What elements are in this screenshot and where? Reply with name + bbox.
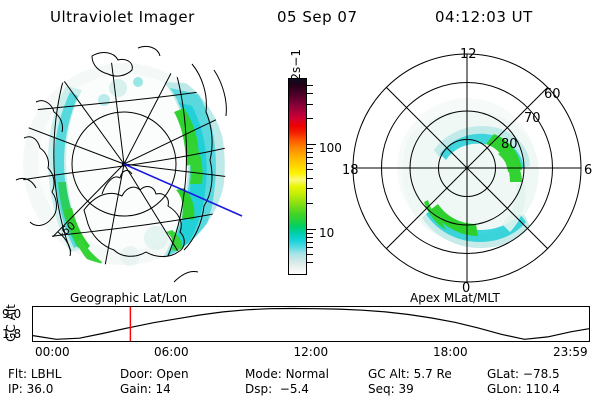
status-glat: GLat: −78.5 bbox=[487, 367, 560, 381]
strip-caption-geographic: Geographic Lat/Lon bbox=[70, 291, 187, 305]
status-gc-alt: GC Alt: 5.7 Re bbox=[368, 367, 452, 381]
status-mode: Mode: Normal bbox=[245, 367, 329, 381]
colorbar-minor-tick bbox=[307, 152, 313, 153]
uvi-summary-plot: Ultraviolet Imager 05 Sep 07 04:12:03 UT bbox=[0, 0, 600, 400]
colorbar-minor-tick bbox=[307, 242, 313, 243]
colorbar-minor-tick bbox=[307, 203, 313, 204]
mlat-label-80: 80 bbox=[501, 137, 518, 152]
aurora-emission-polar bbox=[397, 98, 539, 248]
colorbar-minor-tick bbox=[307, 93, 313, 94]
strip-time-tick-label: 18:00 bbox=[433, 345, 468, 359]
colorbar-minor-tick bbox=[307, 237, 313, 238]
colorbar-minor-tick bbox=[307, 157, 313, 158]
orbit-altitude-curve bbox=[33, 307, 589, 341]
status-gain: Gain: 14 bbox=[120, 382, 171, 396]
apex-polar-panel: 12 6 0 18 60 70 80 bbox=[338, 42, 596, 294]
strip-time-tick-label: 00:00 bbox=[35, 345, 70, 359]
colorbar-tick-label: 10 bbox=[319, 233, 334, 234]
colorbar-minor-tick bbox=[307, 163, 313, 164]
colorbar-minor-tick bbox=[307, 104, 313, 105]
strip-time-tick-label: 12:00 bbox=[294, 345, 329, 359]
strip-caption-apex: Apex MLat/MLT bbox=[410, 291, 500, 305]
colorbar-minor-tick bbox=[307, 85, 313, 86]
status-door: Door: Open bbox=[120, 367, 189, 381]
strip-ytick-top: 9.0 bbox=[2, 307, 21, 321]
orbit-altitude-strip-plot[interactable] bbox=[32, 306, 590, 342]
geographic-image-panel: -60 bbox=[6, 42, 246, 292]
strip-time-tick-label: 23:59 bbox=[553, 345, 588, 359]
mlat-label-60: 60 bbox=[544, 87, 561, 102]
page-title: Ultraviolet Imager bbox=[50, 8, 195, 30]
colorbar-major-tick bbox=[307, 229, 316, 230]
colorbar-group: photon cm−2s−1 10010 bbox=[255, 55, 333, 290]
colorbar-minor-tick bbox=[307, 233, 313, 234]
colorbar-minor-tick bbox=[307, 254, 313, 255]
colorbar-minor-tick bbox=[307, 118, 313, 119]
mlat-label-70: 70 bbox=[524, 111, 541, 126]
colorbar-minor-tick bbox=[307, 188, 313, 189]
strip-ytick-bottom: 1.8 bbox=[2, 327, 21, 341]
status-glon: GLon: 110.4 bbox=[487, 382, 560, 396]
colorbar-gradient bbox=[288, 78, 307, 275]
status-dsp: Dsp: −5.4 bbox=[245, 382, 309, 396]
colorbar-minor-tick bbox=[307, 247, 313, 248]
colorbar-minor-tick bbox=[307, 169, 313, 170]
observation-time: 04:12:03 UT bbox=[435, 8, 533, 30]
mlt-label-6: 6 bbox=[584, 163, 592, 178]
colorbar-minor-tick bbox=[307, 148, 313, 149]
colorbar-major-tick bbox=[307, 144, 316, 145]
colorbar-minor-tick bbox=[307, 178, 313, 179]
colorbar-minor-tick bbox=[307, 262, 313, 263]
status-flt: Flt: LBHL bbox=[8, 367, 61, 381]
strip-time-tick-label: 06:00 bbox=[154, 345, 189, 359]
status-seq: Seq: 39 bbox=[368, 382, 414, 396]
mlt-label-18: 18 bbox=[342, 163, 359, 178]
mlt-label-12: 12 bbox=[460, 47, 477, 62]
status-ip: IP: 36.0 bbox=[8, 382, 53, 396]
